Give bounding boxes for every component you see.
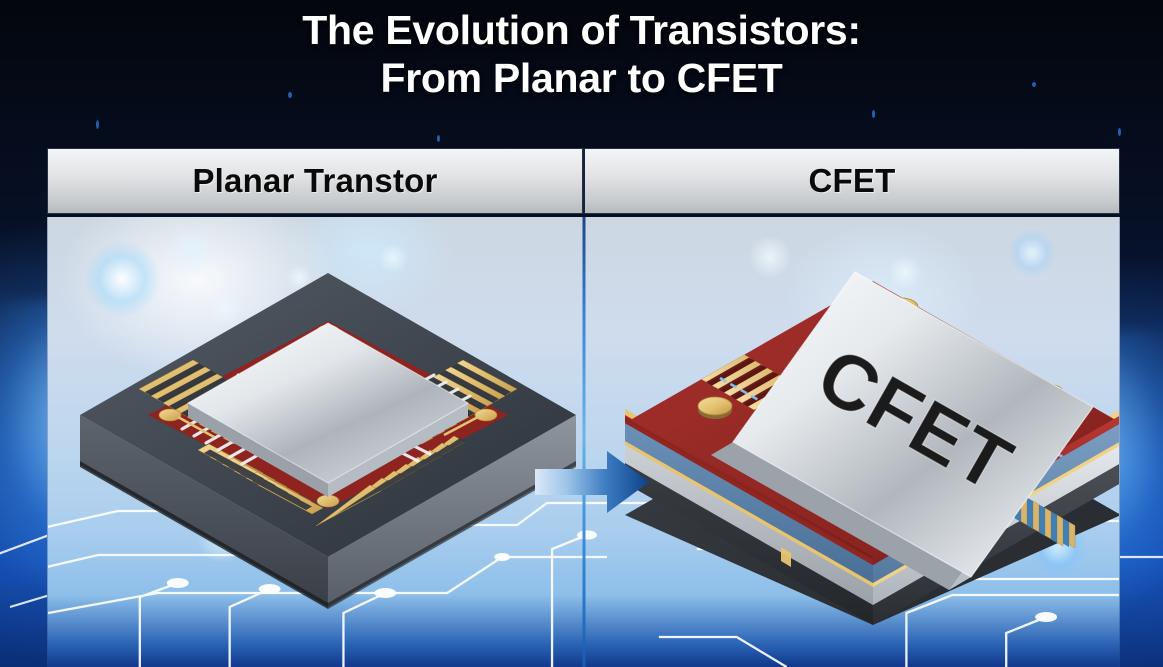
background-spark — [872, 110, 875, 118]
cfet-illustration: CFET CFET stacked transistor illustratio… — [623, 247, 1120, 627]
title-line-1: The Evolution of Transistors: — [0, 6, 1163, 54]
column-header-planar-label: Planar Transtor — [192, 162, 437, 200]
title-line-2: From Planar to CFET — [0, 54, 1163, 102]
background-spark — [1118, 128, 1121, 136]
background-spark — [96, 120, 99, 129]
comparison-body-row: Planar transistor package illustration — [47, 217, 1120, 667]
comparison-panel: Planar Transtor CFET — [47, 148, 1120, 667]
column-header-planar[interactable]: Planar Transtor — [47, 148, 583, 214]
right-arrow-icon — [535, 449, 650, 515]
background-spark — [437, 135, 440, 142]
column-divider — [582, 217, 585, 667]
slide-canvas: The Evolution of Transistors: From Plana… — [0, 0, 1163, 667]
planar-transistor-illustration: Planar transistor package illustration — [78, 265, 578, 625]
column-header-cfet-label: CFET — [809, 162, 896, 200]
comparison-header-row: Planar Transtor CFET — [47, 148, 1120, 214]
column-header-cfet[interactable]: CFET — [583, 148, 1120, 214]
page-title: The Evolution of Transistors: From Plana… — [0, 6, 1163, 103]
